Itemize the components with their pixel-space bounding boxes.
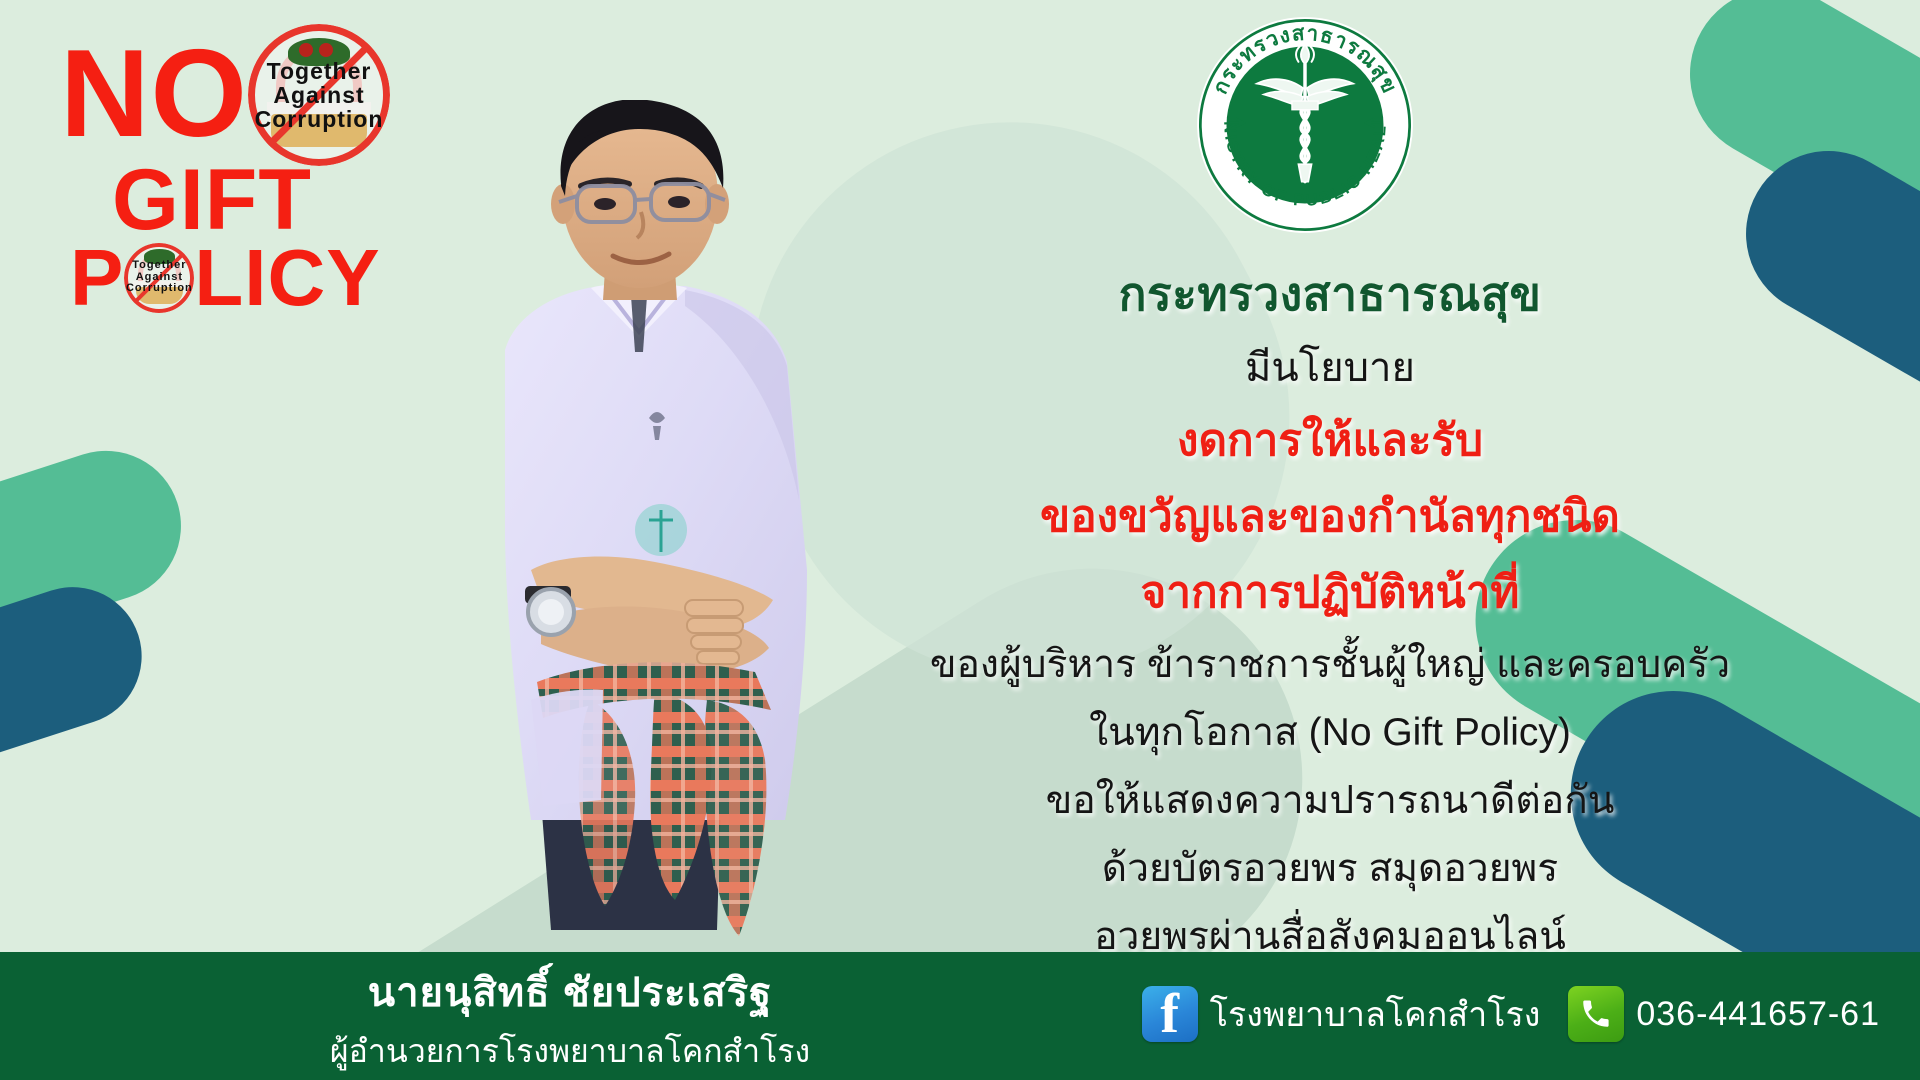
footer-person-block: นายนุสิทธิ์ ชัยประเสริฐ ผู้อำนวยการโรงพย… bbox=[260, 960, 880, 1077]
person-role: ผู้อำนวยการโรงพยาบาลโคกสำโรง bbox=[260, 1026, 880, 1077]
person-name: นายนุสิทธิ์ ชัยประเสริฐ bbox=[260, 960, 880, 1024]
wristwatch bbox=[525, 586, 574, 635]
nogift-line-3-p: P bbox=[70, 240, 124, 316]
badge-word-2: Against bbox=[273, 83, 364, 107]
policy-message: กระทรวงสาธารณสุข มีนโยบาย งดการให้และรับ… bbox=[880, 258, 1780, 1035]
ministry-of-public-health-seal: กระทรวงสาธารณสุข MINISTRY OF PUBLIC HEAL… bbox=[1196, 16, 1414, 234]
nogift-line-3-licy: LICY bbox=[194, 240, 380, 316]
message-body-2: ในทุกโอกาส (No Gift Policy) bbox=[880, 701, 1780, 763]
facebook-page-name: โรงพยาบาลโคกสำโรง bbox=[1210, 987, 1541, 1041]
footer-bar: นายนุสิทธิ์ ชัยประเสริฐ ผู้อำนวยการโรงพย… bbox=[0, 952, 1920, 1080]
facebook-contact[interactable]: โรงพยาบาลโคกสำโรง bbox=[1142, 986, 1541, 1042]
no-gift-policy-poster: NO Together Against Corruption bbox=[0, 0, 1920, 1080]
telephone-contact[interactable]: 036-441657-61 bbox=[1568, 986, 1880, 1042]
shirt-chest-emblem bbox=[635, 504, 687, 556]
message-body-4: ด้วยบัตรอวยพร สมุดอวยพร bbox=[880, 837, 1780, 899]
message-emphasis-3: จากการปฏิบัติหน้าที่ bbox=[880, 557, 1780, 627]
together-against-corruption-badge: Together Against Corruption bbox=[248, 24, 390, 166]
message-body-1: ของผู้บริหาร ข้าราชการชั้นผู้ใหญ่ และครอ… bbox=[880, 633, 1780, 695]
badge-small-word-3: Corruption bbox=[126, 283, 193, 295]
message-emphasis-1: งดการให้และรับ bbox=[880, 405, 1780, 475]
phone-icon[interactable] bbox=[1568, 986, 1624, 1042]
phone-number: 036-441657-61 bbox=[1636, 995, 1880, 1034]
nogift-line-2: GIFT bbox=[60, 160, 480, 242]
together-against-corruption-badge-small: Together Against Corruption bbox=[124, 243, 194, 313]
no-gift-policy-wordmark: NO Together Against Corruption bbox=[60, 24, 480, 316]
message-body-3: ขอให้แสดงความปรารถนาดีต่อกัน bbox=[880, 769, 1780, 831]
message-heading: กระทรวงสาธารณสุข bbox=[880, 258, 1780, 331]
badge-word-3: Corruption bbox=[255, 107, 384, 131]
facebook-icon[interactable] bbox=[1142, 986, 1198, 1042]
left-blue-pill bbox=[0, 569, 160, 849]
footer-contact-block: โรงพยาบาลโคกสำโรง 036-441657-61 bbox=[1142, 986, 1880, 1042]
nogift-line-1: NO bbox=[60, 36, 248, 154]
badge-word-1: Together bbox=[267, 59, 372, 83]
message-subheading: มีนโยบาย bbox=[880, 335, 1780, 399]
message-emphasis-2: ของขวัญและของกำนัลทุกชนิด bbox=[880, 481, 1780, 551]
